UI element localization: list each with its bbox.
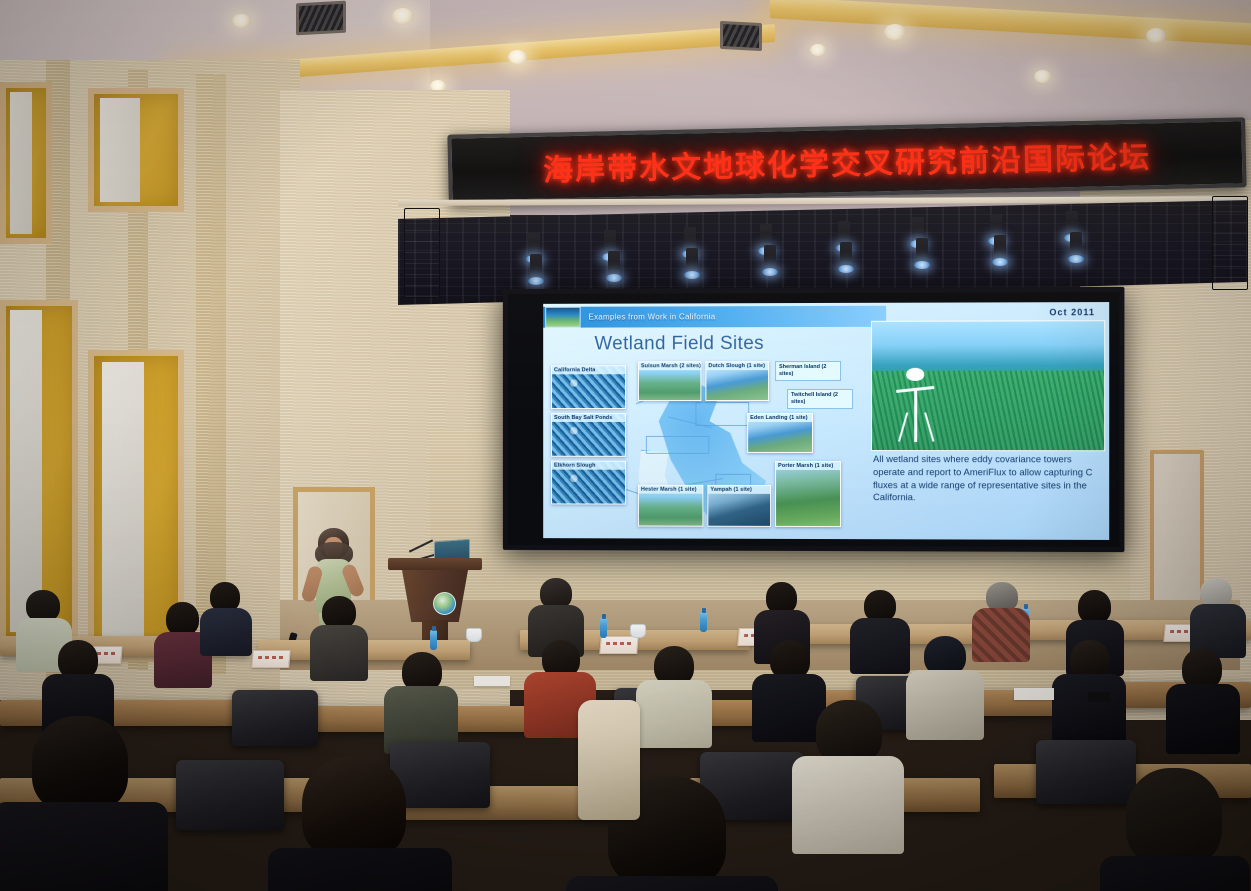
site-photo: South Bay Salt Ponds	[551, 413, 626, 457]
curtain	[100, 98, 140, 202]
site-photo: California Delta	[551, 365, 626, 409]
site-photo: Hester Marsh (1 site)	[638, 485, 703, 527]
torso	[792, 756, 904, 854]
head	[816, 700, 882, 764]
hvac-vent-icon	[296, 1, 346, 36]
stage-spotlight	[686, 248, 698, 274]
slide-title: Wetland Field Sites	[594, 333, 764, 355]
ceiling-downlight	[884, 24, 906, 40]
curtain	[10, 92, 32, 234]
ceiling-downlight	[1146, 28, 1166, 43]
ceiling-downlight	[392, 8, 414, 24]
site-photo: Porter Marsh (1 site)	[775, 461, 841, 527]
site-photo-caption: Dutch Slough (1 site)	[706, 362, 768, 370]
torso	[972, 608, 1030, 662]
torso	[1052, 674, 1126, 742]
stage-spotlight	[764, 245, 776, 271]
stage-spotlight	[608, 251, 620, 277]
handout-paper	[1014, 688, 1054, 700]
torso	[268, 848, 452, 891]
head	[302, 756, 406, 860]
draped-jacket	[578, 700, 640, 820]
torso	[636, 680, 712, 748]
site-photo: Eden Landing (1 site)	[747, 413, 813, 453]
water-bottle	[700, 612, 707, 632]
slide-date-stamp: Oct 2011	[1049, 307, 1095, 317]
head	[32, 716, 128, 812]
window-niche	[88, 88, 184, 212]
torso	[1166, 684, 1240, 754]
site-callout-label: Twitchell Island (2 sites)	[787, 389, 853, 409]
water-bottle	[430, 630, 437, 650]
site-photo: Elkhorn Slough	[551, 461, 626, 505]
torso	[200, 608, 252, 656]
curtain	[10, 310, 42, 632]
chair[interactable]	[232, 690, 318, 746]
water-bottle	[600, 618, 607, 638]
slide-body-text: All wetland sites where eddy covariance …	[873, 453, 1101, 505]
torso	[566, 876, 778, 891]
lectern-top	[388, 558, 482, 570]
teacup	[466, 628, 482, 642]
site-callout-label: Sherman Island (2 sites)	[775, 361, 841, 381]
stage-spotlight	[1070, 232, 1082, 258]
slide-header-label: Examples from Work in California	[589, 312, 716, 321]
slide-logo-icon	[545, 307, 580, 328]
site-photo-caption: Yampah (1 site)	[708, 486, 770, 494]
site-photo-caption: Eden Landing (1 site)	[748, 414, 812, 422]
window-niche	[0, 82, 52, 244]
callout-box	[646, 436, 709, 454]
handout-paper	[474, 676, 510, 686]
name-placard	[251, 650, 291, 668]
site-photo-caption: South Bay Salt Ponds	[552, 414, 625, 422]
ceiling-downlight	[232, 14, 251, 28]
hvac-vent-icon	[720, 21, 762, 51]
presentation-slide: Examples from Work in California Oct 201…	[543, 302, 1109, 540]
site-photo-caption: Suisun Marsh (2 sites)	[639, 362, 700, 370]
stage-spotlight	[916, 238, 928, 264]
eddy-covariance-tower-photo	[871, 320, 1105, 451]
torso	[906, 670, 984, 740]
stage-spotlight	[840, 242, 852, 268]
site-photo-caption: Hester Marsh (1 site)	[639, 486, 702, 494]
stage-spotlight	[994, 235, 1006, 261]
smartphone	[1088, 692, 1110, 702]
site-photo: Dutch Slough (1 site)	[705, 361, 769, 401]
torso	[0, 802, 168, 891]
site-photo-caption: Porter Marsh (1 site)	[776, 462, 840, 470]
banner-title: 海岸带水文地球化学交叉研究前沿国际论坛	[543, 132, 1152, 189]
torso	[850, 618, 910, 674]
line-array-speaker	[404, 208, 440, 298]
institution-emblem	[433, 592, 456, 615]
slide-header-bar: Examples from Work in California	[543, 306, 886, 328]
flux-tower-icon	[894, 368, 938, 442]
torso	[1100, 856, 1250, 891]
chair[interactable]	[176, 760, 284, 830]
head	[1078, 590, 1111, 624]
site-photo-caption: Elkhorn Slough	[552, 462, 625, 470]
head	[166, 602, 199, 636]
lecture-hall-photograph: 海岸带水文地球化学交叉研究前沿国际论坛 Examples from Work i…	[0, 0, 1251, 891]
torso	[310, 625, 368, 681]
head	[1126, 768, 1222, 866]
line-array-speaker	[1212, 196, 1248, 290]
chair[interactable]	[1036, 740, 1136, 804]
ceiling-downlight	[810, 44, 826, 56]
site-photo: Yampah (1 site)	[707, 485, 771, 527]
teacup	[630, 624, 646, 638]
site-photo: Suisun Marsh (2 sites)	[638, 361, 701, 401]
lectern-front	[402, 570, 468, 622]
stage-spotlight	[530, 254, 542, 280]
ceiling-downlight	[508, 50, 527, 64]
ceiling-downlight	[1034, 70, 1051, 83]
site-photo-caption: California Delta	[552, 366, 625, 374]
torso	[752, 674, 826, 742]
projection-screen: Examples from Work in California Oct 201…	[503, 287, 1125, 552]
curtain	[102, 362, 144, 650]
name-placard	[599, 636, 639, 654]
